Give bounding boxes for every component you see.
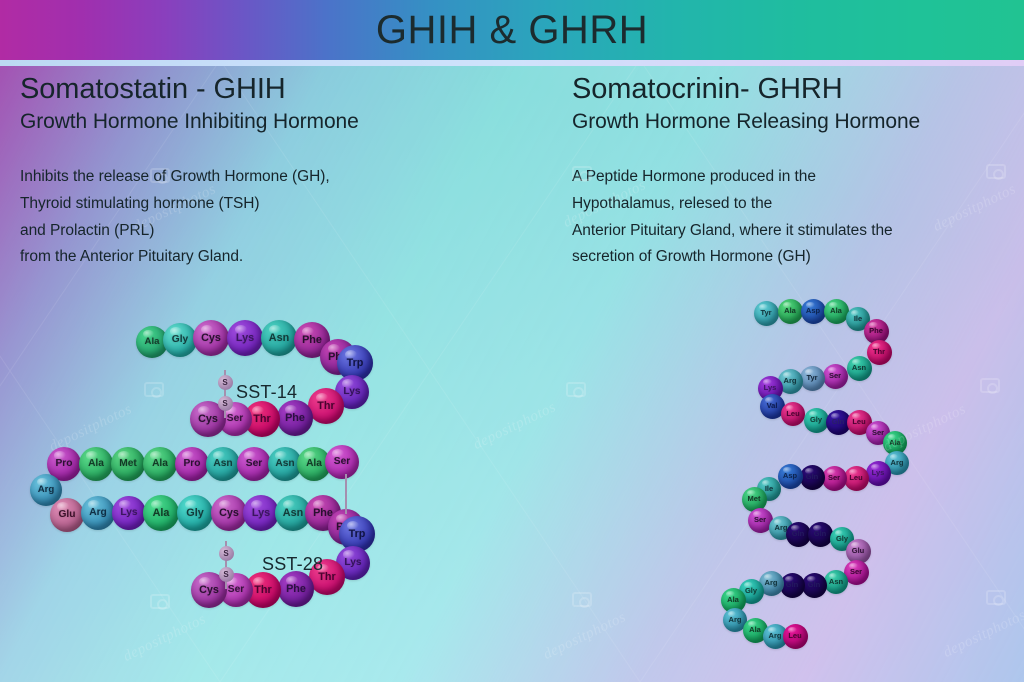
watermark-text: depositphotos <box>121 611 209 666</box>
residue-tyr[interactable]: Tyr <box>754 301 779 326</box>
residue-cys[interactable]: Cys <box>211 495 247 531</box>
left-body-line: Thyroid stimulating hormone (TSH) <box>20 191 520 218</box>
residue-thr[interactable]: Thr <box>308 388 344 424</box>
residue-ala[interactable]: Ala <box>778 299 803 324</box>
chain-label-sst14: SST-14 <box>236 382 297 403</box>
page-title: GHIH & GHRH <box>376 10 648 50</box>
residue-lys[interactable]: Lys <box>112 496 146 530</box>
residue-phe[interactable]: Phe <box>278 571 314 607</box>
residue-tyr[interactable]: Tyr <box>800 366 825 391</box>
residue-gly[interactable]: Gly <box>804 408 829 433</box>
residue-thr[interactable]: Thr <box>867 340 892 365</box>
residue-asn[interactable]: Asn <box>261 320 297 356</box>
residue-ser[interactable]: Ser <box>325 445 359 479</box>
residue-ala[interactable]: Ala <box>143 447 177 481</box>
header-underline <box>0 60 1024 66</box>
camera-icon <box>144 382 164 397</box>
residue-gly[interactable]: Gly <box>163 323 197 357</box>
camera-icon <box>986 590 1006 605</box>
residue-ala[interactable]: Ala <box>143 495 179 531</box>
residue-gln[interactable]: Gln <box>802 573 827 598</box>
residue-asn[interactable]: Asn <box>824 570 848 594</box>
right-body: A Peptide Hormone produced in the Hypoth… <box>572 164 1024 271</box>
residue-gln[interactable]: Gln <box>786 522 811 547</box>
sulfur-node[interactable]: S <box>219 567 234 582</box>
residue-leu[interactable]: Leu <box>781 402 805 426</box>
residue-asp[interactable]: Asp <box>778 464 803 489</box>
section-somatostatin: Somatostatin - GHIH Growth Hormone Inhib… <box>20 74 520 271</box>
camera-icon <box>980 378 1000 393</box>
left-subtitle: Growth Hormone Inhibiting Hormone <box>20 110 520 134</box>
left-body-line: and Prolactin (PRL) <box>20 218 520 245</box>
residue-ser[interactable]: Ser <box>823 364 848 389</box>
watermark-text: depositphotos <box>471 399 559 454</box>
residue-asn[interactable]: Asn <box>206 447 240 481</box>
left-body-line: Inhibits the release of Growth Hormone (… <box>20 164 520 191</box>
residue-asp[interactable]: Asp <box>801 299 826 324</box>
sulfur-node[interactable]: S <box>218 396 233 411</box>
residue-gln[interactable]: Gln <box>808 522 833 547</box>
residue-leu[interactable]: Leu <box>783 624 808 649</box>
right-body-line: secretion of Growth Hormone (GH) <box>572 244 1024 271</box>
watermark-text: depositphotos <box>541 609 629 664</box>
left-body: Inhibits the release of Growth Hormone (… <box>20 164 520 271</box>
residue-cys[interactable]: Cys <box>193 320 229 356</box>
residue-gln[interactable]: Gln <box>800 465 825 490</box>
camera-icon <box>566 382 586 397</box>
residue-leu[interactable]: Leu <box>844 466 869 491</box>
right-body-line: A Peptide Hormone produced in the <box>572 164 1024 191</box>
left-title: Somatostatin - GHIH <box>20 74 520 104</box>
residue-lys[interactable]: Lys <box>227 320 263 356</box>
residue-ala[interactable]: Ala <box>79 447 113 481</box>
residue-phe[interactable]: Phe <box>277 400 313 436</box>
residue-pro[interactable]: Pro <box>175 447 209 481</box>
residue-arg[interactable]: Arg <box>81 496 115 530</box>
right-title: Somatocrinin- GHRH <box>572 74 1024 104</box>
residue-ser[interactable]: Ser <box>237 447 271 481</box>
watermark-text: depositphotos <box>941 607 1024 662</box>
residue-lys[interactable]: Lys <box>866 461 891 486</box>
residue-ser[interactable]: Ser <box>822 466 847 491</box>
residue-gly[interactable]: Gly <box>177 495 213 531</box>
residue-met[interactable]: Met <box>111 447 145 481</box>
page-header: GHIH & GHRH <box>0 0 1024 60</box>
chain-label-sst28: SST-28 <box>262 554 323 575</box>
residue-lys[interactable]: Lys <box>243 495 279 531</box>
left-body-line: from the Anterior Pituitary Gland. <box>20 244 520 271</box>
camera-icon <box>150 594 170 609</box>
peptide-link-line <box>345 474 347 514</box>
camera-icon <box>572 592 592 607</box>
residue-glu[interactable]: Glu <box>50 498 84 532</box>
right-body-line: Anterior Pituitary Gland, where it stimu… <box>572 218 1024 245</box>
right-body-line: Hypothalamus, relesed to the <box>572 191 1024 218</box>
sulfur-node[interactable]: S <box>218 375 233 390</box>
residue-ala[interactable]: Ala <box>824 299 849 324</box>
residue-asn[interactable]: Asn <box>847 356 872 381</box>
sulfur-node[interactable]: S <box>219 546 234 561</box>
section-somatocrinin: Somatocrinin- GHRH Growth Hormone Releas… <box>572 74 1024 271</box>
right-subtitle: Growth Hormone Releasing Hormone <box>572 110 1024 134</box>
